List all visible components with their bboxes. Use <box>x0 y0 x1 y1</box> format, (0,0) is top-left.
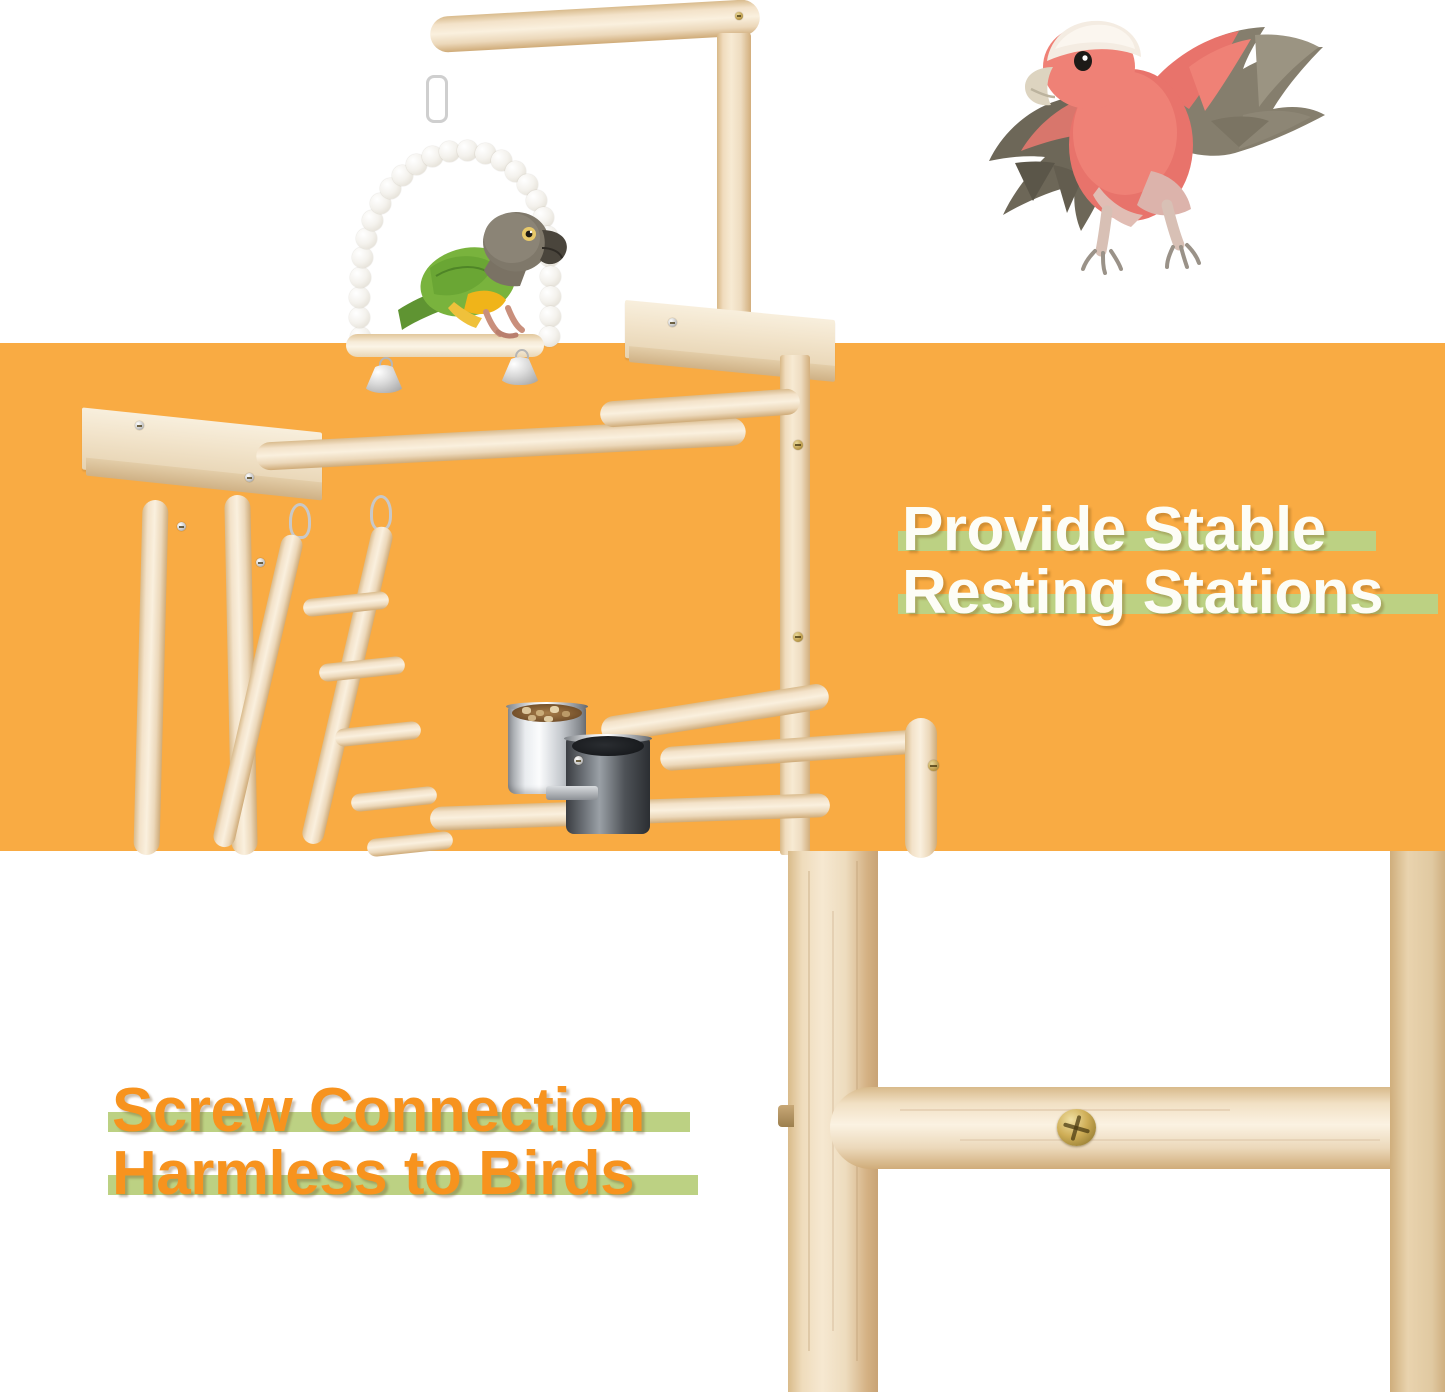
seed-bit <box>562 711 570 717</box>
swing-bead <box>349 307 370 328</box>
swing-bead <box>349 287 370 308</box>
closeup-perch-dowel <box>830 1087 1445 1169</box>
seed-bit <box>522 707 531 714</box>
ladder-rung-5 <box>366 831 453 858</box>
screw-platform-left-b <box>245 473 254 482</box>
headline-line: Resting Stations <box>898 561 1387 624</box>
wood-grain <box>900 1109 1230 1111</box>
headline-resting-stations: Provide Stable Resting Stations <box>898 498 1387 624</box>
swing-bead <box>356 228 377 249</box>
right-vertical-post-lower <box>780 355 810 855</box>
screw-right-post-a <box>793 440 803 450</box>
ladder-hook-left <box>289 503 311 539</box>
screw-platform-left-a <box>135 421 144 430</box>
product-feature-graphic: Provide Stable Resting Stations <box>0 0 1445 1392</box>
headline-line-2-text: Resting Stations <box>902 561 1383 624</box>
seed-bit <box>544 716 553 722</box>
top-horizontal-dowel <box>429 0 760 53</box>
headline-line: Provide Stable <box>898 498 1387 561</box>
brass-phillips-screw <box>1057 1109 1096 1146</box>
ladder-rung-2 <box>318 656 405 683</box>
screw-joint-closeup-photo <box>700 851 1445 1392</box>
screw-left-leg-joint <box>177 522 186 531</box>
cup-group <box>500 690 700 855</box>
bell-body <box>364 365 404 393</box>
wood-grain <box>808 871 810 1351</box>
ladder-rung-4 <box>350 786 437 813</box>
swing-bead <box>352 247 373 268</box>
secondary-screw-nub <box>778 1105 794 1127</box>
headline-line-2-text: Harmless to Birds <box>112 1142 634 1205</box>
galah-cockatoo-illustration <box>955 5 1345 275</box>
left-leg-front <box>133 500 168 856</box>
right-vertical-post-upper <box>717 33 751 333</box>
cup-bracket <box>546 786 598 800</box>
swing-bead <box>350 267 371 288</box>
headline-line: Screw Connection <box>108 1079 649 1142</box>
senegal-parrot-illustration <box>390 190 580 355</box>
right-outer-post <box>905 718 937 858</box>
screw-top-dowel <box>735 12 743 20</box>
seed-bit <box>528 715 536 721</box>
headline-line-1-text: Screw Connection <box>112 1079 645 1142</box>
carabiner-clip-icon <box>426 75 448 123</box>
screw-left-leg-joint-b <box>256 558 265 567</box>
screw-right-post-b <box>793 632 803 642</box>
wood-grain <box>960 1139 1380 1141</box>
screw-platform-right-a <box>668 318 677 327</box>
headline-screw-connection: Screw Connection Harmless to Birds <box>108 1079 649 1205</box>
seed-bit <box>550 706 559 713</box>
seed-bit <box>536 710 544 716</box>
bell-body <box>500 357 540 385</box>
swing-bell-left <box>364 357 404 393</box>
ladder-rung-1 <box>302 591 389 618</box>
headline-line-1-text: Provide Stable <box>902 498 1326 561</box>
water-cup-interior <box>572 736 644 756</box>
screw-cup-bracket <box>574 756 583 765</box>
screw-outer-post <box>928 760 939 771</box>
closeup-right-post <box>1390 851 1445 1392</box>
headline-line: Harmless to Birds <box>108 1142 649 1205</box>
